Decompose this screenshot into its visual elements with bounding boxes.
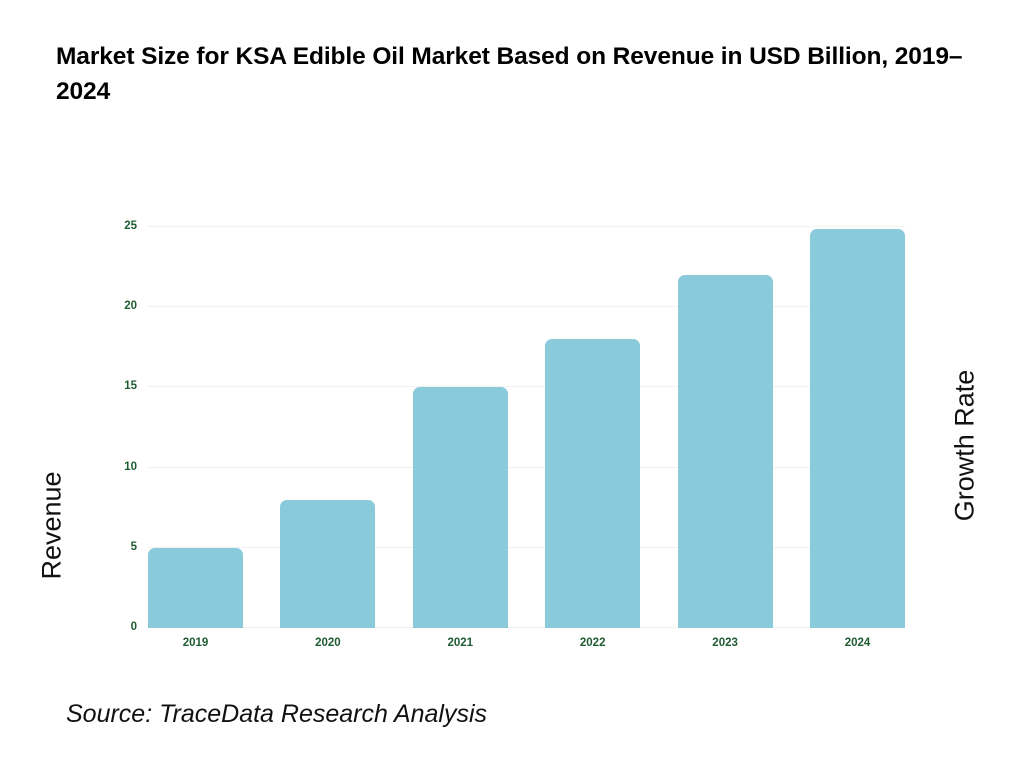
bar[interactable] [280,500,375,628]
bar[interactable] [810,229,905,628]
bar-group: 2022 [545,219,640,628]
bar-group: 2019 [148,219,243,628]
y-tick-label: 20 [124,300,137,312]
bar[interactable] [678,275,773,628]
chart-page: Market Size for KSA Edible Oil Market Ba… [0,0,1024,768]
bar-group: 2023 [678,219,773,628]
bar[interactable] [413,387,508,628]
y-axis-title-left: Revenue [37,436,68,616]
y-tick-label: 10 [124,461,137,473]
plot-area: 0510152025 201920202021202220232024 [148,219,905,628]
y-tick-label: 25 [124,220,137,232]
bar-group: 2024 [810,219,905,628]
x-tick-label: 2019 [148,637,243,649]
x-tick-label: 2020 [280,637,375,649]
x-tick-label: 2024 [810,637,905,649]
y-axis-title-right: Growth Rate [950,336,981,556]
source-note: Source: TraceData Research Analysis [66,700,487,729]
y-tick-label: 15 [124,380,137,392]
x-tick-label: 2023 [678,637,773,649]
y-tick-label: 5 [131,541,137,553]
y-tick-label: 0 [131,621,137,633]
bar-series: 201920202021202220232024 [148,219,905,628]
x-tick-label: 2021 [413,637,508,649]
bar[interactable] [545,339,640,628]
bar[interactable] [148,548,243,628]
bar-group: 2020 [280,219,375,628]
page-title: Market Size for KSA Edible Oil Market Ba… [56,40,986,110]
x-tick-label: 2022 [545,637,640,649]
bar-group: 2021 [413,219,508,628]
